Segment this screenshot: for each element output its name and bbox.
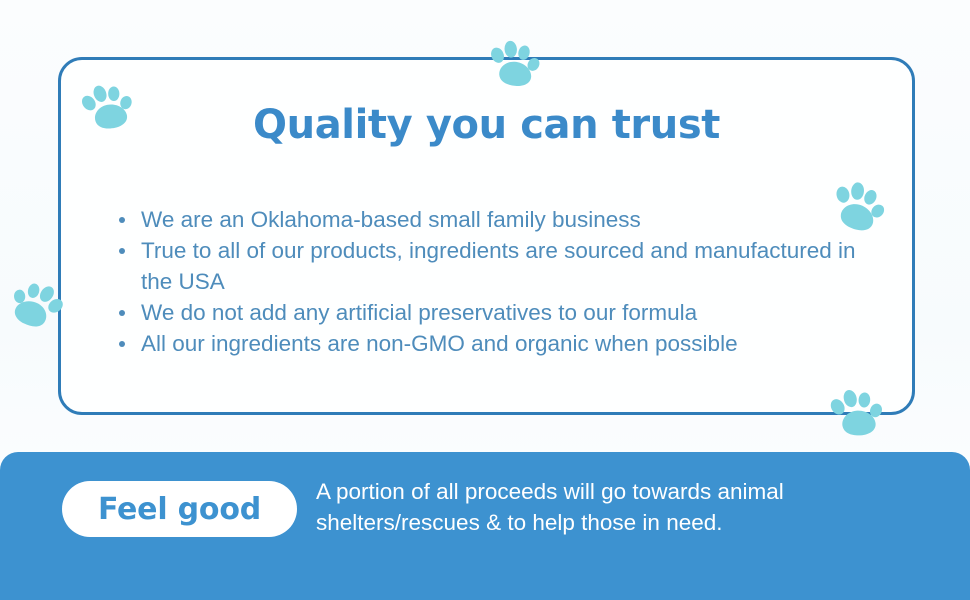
feel-good-banner: Feel good A portion of all proceeds will… — [0, 452, 970, 600]
donation-statement: A portion of all proceeds will go toward… — [316, 476, 916, 538]
quality-trust-card: Quality you can trust We are an Oklahoma… — [58, 57, 915, 415]
list-item: We do not add any artificial preservativ… — [115, 297, 888, 328]
feel-good-badge-label: Feel good — [98, 492, 261, 527]
trust-points-list: We are an Oklahoma-based small family bu… — [115, 204, 888, 359]
feel-good-badge: Feel good — [62, 481, 297, 537]
list-item: All our ingredients are non-GMO and orga… — [115, 328, 888, 359]
list-item: True to all of our products, ingredients… — [115, 235, 888, 297]
donation-statement-line-1: A portion of all proceeds will go toward… — [316, 476, 916, 507]
donation-statement-line-2: shelters/rescues & to help those in need… — [316, 507, 916, 538]
page-title: Quality you can trust — [61, 102, 912, 148]
promo-graphic: Quality you can trust We are an Oklahoma… — [0, 0, 970, 600]
list-item: We are an Oklahoma-based small family bu… — [115, 204, 888, 235]
